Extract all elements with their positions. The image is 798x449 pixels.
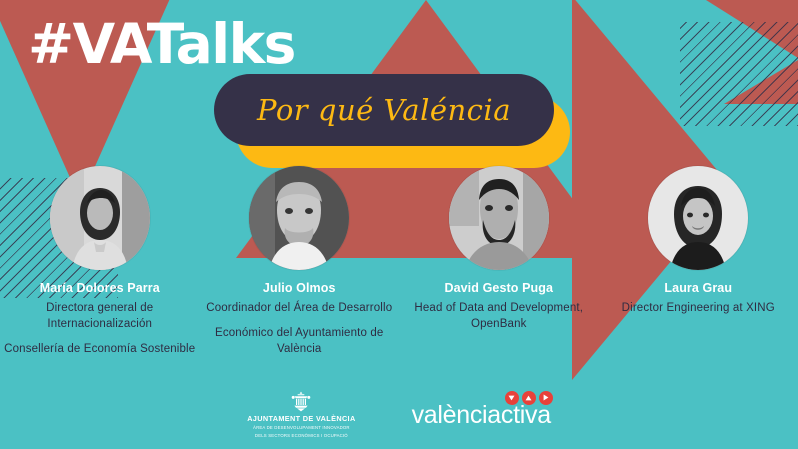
diagonal-hatch-right [680, 22, 798, 126]
speaker-role: Coordinador del Área de Desarrollo [206, 300, 392, 316]
avatar [449, 166, 549, 270]
avatar [249, 166, 349, 270]
poster-canvas: #VATalks Por qué Valéncia Marí [0, 0, 798, 449]
speaker-card: María Dolores Parra Directora general de… [2, 166, 197, 358]
speaker-list: María Dolores Parra Directora general de… [0, 166, 798, 358]
avatar [50, 166, 150, 270]
speaker-role: Head of Data and Development, OpenBank [406, 300, 592, 333]
speaker-role: Directora general de Internacionalizació… [7, 300, 193, 333]
ajuntament-title: AJUNTAMENT DE VALÈNCIA [247, 414, 355, 423]
triangle-right-play-icon [539, 391, 553, 405]
portrait-image [449, 166, 549, 270]
portrait-image [50, 166, 150, 270]
avatar [648, 166, 748, 270]
valencia-crest-icon [288, 391, 314, 412]
wordmark-part-activa: activa [487, 401, 551, 429]
triangle-up-icon [522, 391, 536, 405]
speaker-name: María Dolores Parra [40, 281, 160, 297]
speaker-card: Laura Grau Director Engineering at XING [601, 166, 796, 316]
speaker-org: Consellería de Economía Sostenible [4, 341, 195, 357]
subtitle-badge: Por qué Valéncia [214, 74, 570, 168]
valencia-activa-logo: valènciactiva [412, 403, 551, 428]
speaker-name: Julio Olmos [263, 281, 336, 297]
ajuntament-subtitle-line1: ÀREA DE DESENVOLUPAMENT INNOVADOR [253, 425, 350, 431]
speaker-card: Julio Olmos Coordinador del Área de Desa… [202, 166, 397, 358]
speaker-org: Económico del Ayuntamiento de València [203, 325, 395, 358]
wordmark-part-valenci: valènci [412, 401, 488, 429]
ajuntament-de-valencia-logo: AJUNTAMENT DE VALÈNCIA ÀREA DE DESENVOLU… [247, 391, 355, 439]
speaker-role: Director Engineering at XING [622, 300, 775, 316]
footer-logos: AJUNTAMENT DE VALÈNCIA ÀREA DE DESENVOLU… [0, 391, 798, 439]
speaker-name: David Gesto Puga [444, 281, 553, 297]
valencia-activa-wordmark: valènciactiva [412, 403, 551, 428]
speaker-name: Laura Grau [664, 281, 732, 297]
portrait-image [648, 166, 748, 270]
badge-label: Por qué Valéncia [257, 93, 511, 127]
page-title: #VATalks [28, 17, 295, 72]
valencia-activa-dot-group [505, 391, 553, 405]
ajuntament-subtitle-line2: DELS SECTORS ECONÒMICS I OCUPACIÓ [255, 433, 348, 439]
portrait-image [249, 166, 349, 270]
speaker-card: David Gesto Puga Head of Data and Develo… [401, 166, 596, 332]
triangle-down-icon [505, 391, 519, 405]
badge-navy-pill: Por qué Valéncia [214, 74, 554, 146]
